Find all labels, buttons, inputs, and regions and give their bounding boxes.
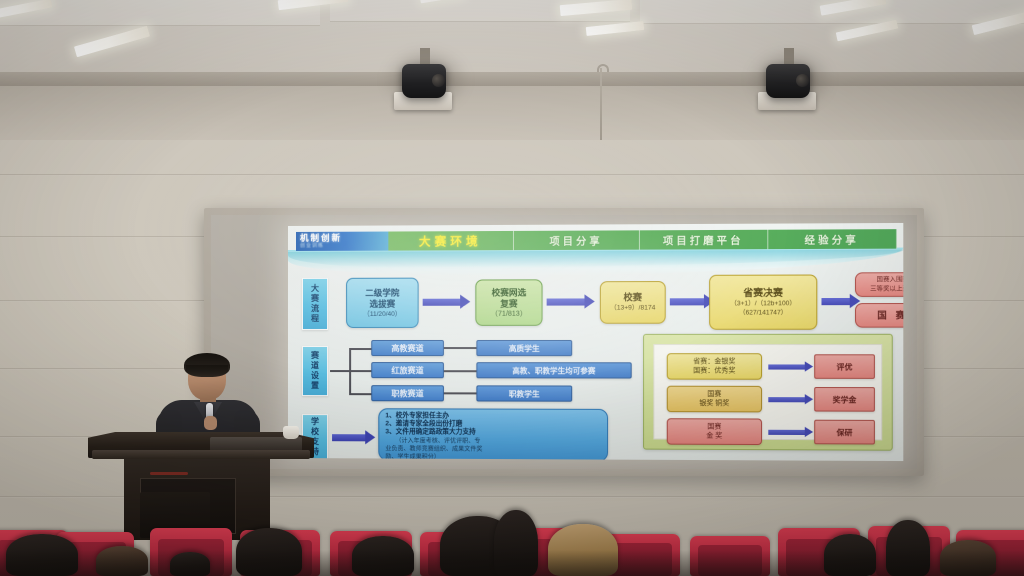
row-label-track-setup: 赛 道 设 置 (302, 346, 328, 396)
podium-front-lip (92, 450, 310, 459)
projector-body (402, 64, 446, 98)
slide-body: 大 赛 流 程 二级学院 选拔赛 （11/20/40） 校赛网选 复赛 （71/… (288, 268, 903, 461)
award-panel-inner: 省赛：金银奖 国赛：优秀奖 评优 国赛 银奖 铜奖 奖学金 (653, 344, 882, 440)
award-source-silver: 国赛 银奖 铜奖 (667, 386, 762, 413)
speaker-hand (204, 416, 217, 430)
flow-box-subtitle: 选拔赛 (369, 298, 395, 309)
track-link (444, 392, 476, 394)
podium-led-indicator (150, 472, 188, 475)
projector-mount (420, 48, 430, 64)
label-char: 赛 (311, 351, 319, 361)
flow-box-stats-2: （627/141747） (739, 308, 787, 317)
award-result-label: 评优 (837, 361, 853, 372)
award-arrow-bronze (768, 430, 806, 435)
flow-box-stats: （3+1）/（12b+100） (730, 299, 796, 308)
award-result-label: 保研 (837, 426, 853, 437)
track-label: 职教赛道 (391, 388, 423, 399)
award-result-graduate-exemption: 保研 (814, 420, 875, 445)
arrow-to-support-list (332, 434, 366, 441)
track-box-vocational-education: 职教赛道 (371, 385, 444, 401)
slide-logo: 机制创新 创业训练 (296, 232, 388, 251)
award-source-line1: 国赛 (707, 422, 721, 431)
projector-lens-icon (796, 74, 809, 87)
ceiling-projector-left (392, 62, 454, 114)
label-char: 设 (311, 371, 319, 381)
flow-box-title: 二级学院 (365, 287, 399, 298)
award-arrow-gold (768, 364, 806, 369)
school-support-list: 1、校外专家担任主办 2、邀请专家全段出份打磨 3、文件用确定路政策大力支持 （… (378, 408, 608, 461)
label-char: 道 (311, 361, 319, 371)
label-char: 大 (311, 284, 319, 294)
ceiling-light (586, 21, 645, 36)
flow-box-stats: （11/20/40） (363, 309, 401, 318)
track-link (444, 370, 476, 372)
nav-item-project-polishing-platform[interactable]: 项目打磨平台 (640, 230, 768, 250)
track-connector-stem (330, 370, 350, 372)
award-result-evaluation: 评优 (814, 354, 875, 379)
arrow-to-school-final (547, 298, 586, 305)
flow-box-title: 省赛决赛 (743, 287, 783, 298)
award-source-bronze: 国赛 金 奖 (667, 418, 762, 445)
audience-foreground-shadow (0, 550, 1024, 576)
award-panel: 省赛：金银奖 国赛：优秀奖 评优 国赛 银奖 铜奖 奖学金 (643, 334, 893, 451)
podium-equipment-slate (210, 437, 302, 451)
slide-header: 机制创新 创业训练 大赛环境 项目分享 项目打磨平台 经验分享 (296, 229, 897, 251)
label-char: 流 (311, 304, 319, 314)
award-source-line1: 国赛 (707, 390, 721, 399)
speaker-hair (184, 353, 230, 377)
track-connector-branch (349, 348, 371, 350)
track-target-label: 高教、职教学生均可参赛 (512, 365, 595, 376)
label-char: 学 (311, 417, 319, 427)
ceiling (0, 0, 1024, 78)
nav-item-project-sharing[interactable]: 项目分享 (513, 230, 639, 250)
rod-hook (597, 64, 609, 72)
flow-box-title: 校赛 (623, 292, 642, 303)
flow-box-stats: （71/813） (491, 309, 527, 318)
track-link (444, 347, 476, 349)
national-note-line2: 三等奖以上奖项 (870, 284, 903, 293)
arrow-to-provincial-final (670, 298, 705, 305)
track-label: 高教赛道 (391, 343, 423, 354)
slide-logo-line1: 机制创新 (300, 234, 388, 243)
award-result-label: 奖学金 (833, 394, 857, 405)
flow-box-subtitle: 复赛 (500, 298, 517, 309)
award-source-line2: 国赛：优秀奖 (693, 366, 735, 375)
flow-box-school-final: 校赛 （13+9）/8174 (600, 281, 666, 324)
track-label: 红旅赛道 (391, 365, 423, 376)
flow-box-provincial-final: 省赛决赛 （3+1）/（12b+100） （627/141747） (709, 275, 817, 330)
audience-area (0, 498, 1024, 576)
ceiling-light (74, 26, 150, 58)
projector-lens-icon (432, 74, 445, 87)
arrow-to-online-qualifier (423, 299, 461, 306)
slide-logo-line2: 创业训练 (300, 243, 388, 249)
national-note-line1: 国赛入围赛 (877, 275, 904, 284)
track-connector-branch (349, 370, 371, 372)
track-box-red-journey: 红旅赛道 (371, 362, 444, 378)
flow-box-title: 校赛网选 (492, 287, 527, 298)
national-label: 国 赛 (877, 310, 903, 321)
label-char: 程 (311, 314, 319, 324)
flow-box-national-qualify-note: 国赛入围赛 三等奖以上奖项 (855, 272, 903, 297)
ceiling-band (0, 72, 1024, 86)
wall-seam (0, 174, 1024, 176)
arrow-to-national (821, 298, 850, 305)
flow-box-secondary-college-selection: 二级学院 选拔赛 （11/20/40） (346, 278, 419, 328)
projector-body (766, 64, 810, 98)
slide-nav: 大赛环境 项目分享 项目打磨平台 经验分享 (388, 229, 897, 250)
upper-wall (0, 86, 1024, 144)
label-char: 置 (311, 381, 319, 391)
ceiling-projector-right (756, 62, 818, 114)
track-target-label: 职教学生 (509, 388, 540, 399)
award-source-line2: 银奖 铜奖 (699, 399, 729, 408)
track-target-red-journey: 高教、职教学生均可参赛 (476, 362, 631, 378)
flow-box-stats: （13+9）/8174 (610, 303, 655, 312)
nav-item-experience-sharing[interactable]: 经验分享 (768, 229, 897, 249)
projector-mount (784, 48, 794, 64)
award-arrow-silver (768, 397, 806, 402)
nav-item-competition-environment[interactable]: 大赛环境 (388, 231, 513, 251)
row-label-competition-process: 大 赛 流 程 (302, 278, 328, 330)
track-target-higher-education: 高质学生 (476, 340, 572, 356)
flow-box-national-competition: 国 赛 (855, 303, 903, 328)
award-source-gold: 省赛：金银奖 国赛：优秀奖 (667, 353, 762, 380)
flow-box-school-online-qualifier: 校赛网选 复赛 （71/813） (475, 279, 542, 326)
projected-slide: 机制创新 创业训练 大赛环境 项目分享 项目打磨平台 经验分享 大 赛 流 程 … (288, 223, 903, 461)
drinking-cup (283, 426, 299, 439)
lecture-hall-scene: 机制创新 创业训练 大赛环境 项目分享 项目打磨平台 经验分享 大 赛 流 程 … (0, 0, 1024, 576)
track-target-label: 高质学生 (509, 343, 540, 354)
track-connector-branch (349, 393, 371, 395)
track-box-higher-education: 高教赛道 (371, 340, 444, 356)
track-target-vocational-education: 职教学生 (476, 385, 572, 401)
award-source-line2: 金 奖 (706, 432, 722, 441)
award-source-line1: 省赛：金银奖 (693, 357, 735, 366)
label-char: 赛 (311, 294, 319, 304)
award-result-scholarship: 奖学金 (814, 387, 875, 412)
